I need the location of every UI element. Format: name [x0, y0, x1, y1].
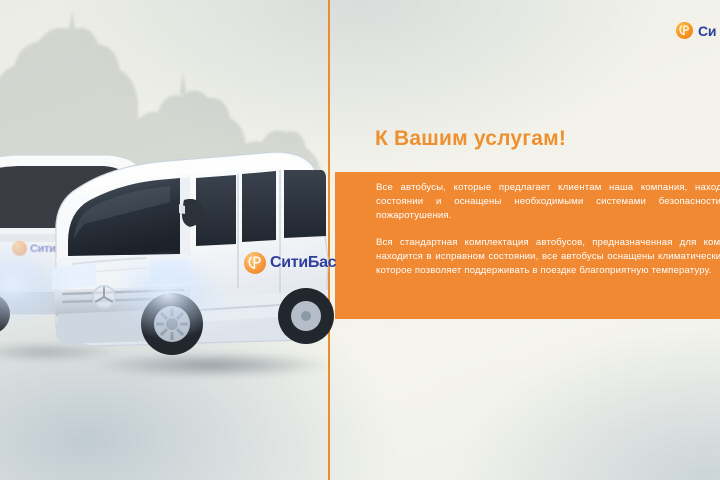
slide-canvas: К Вашим услугам! Все автобусы, которые п… [0, 0, 720, 480]
background-texture-overlay [0, 0, 720, 480]
